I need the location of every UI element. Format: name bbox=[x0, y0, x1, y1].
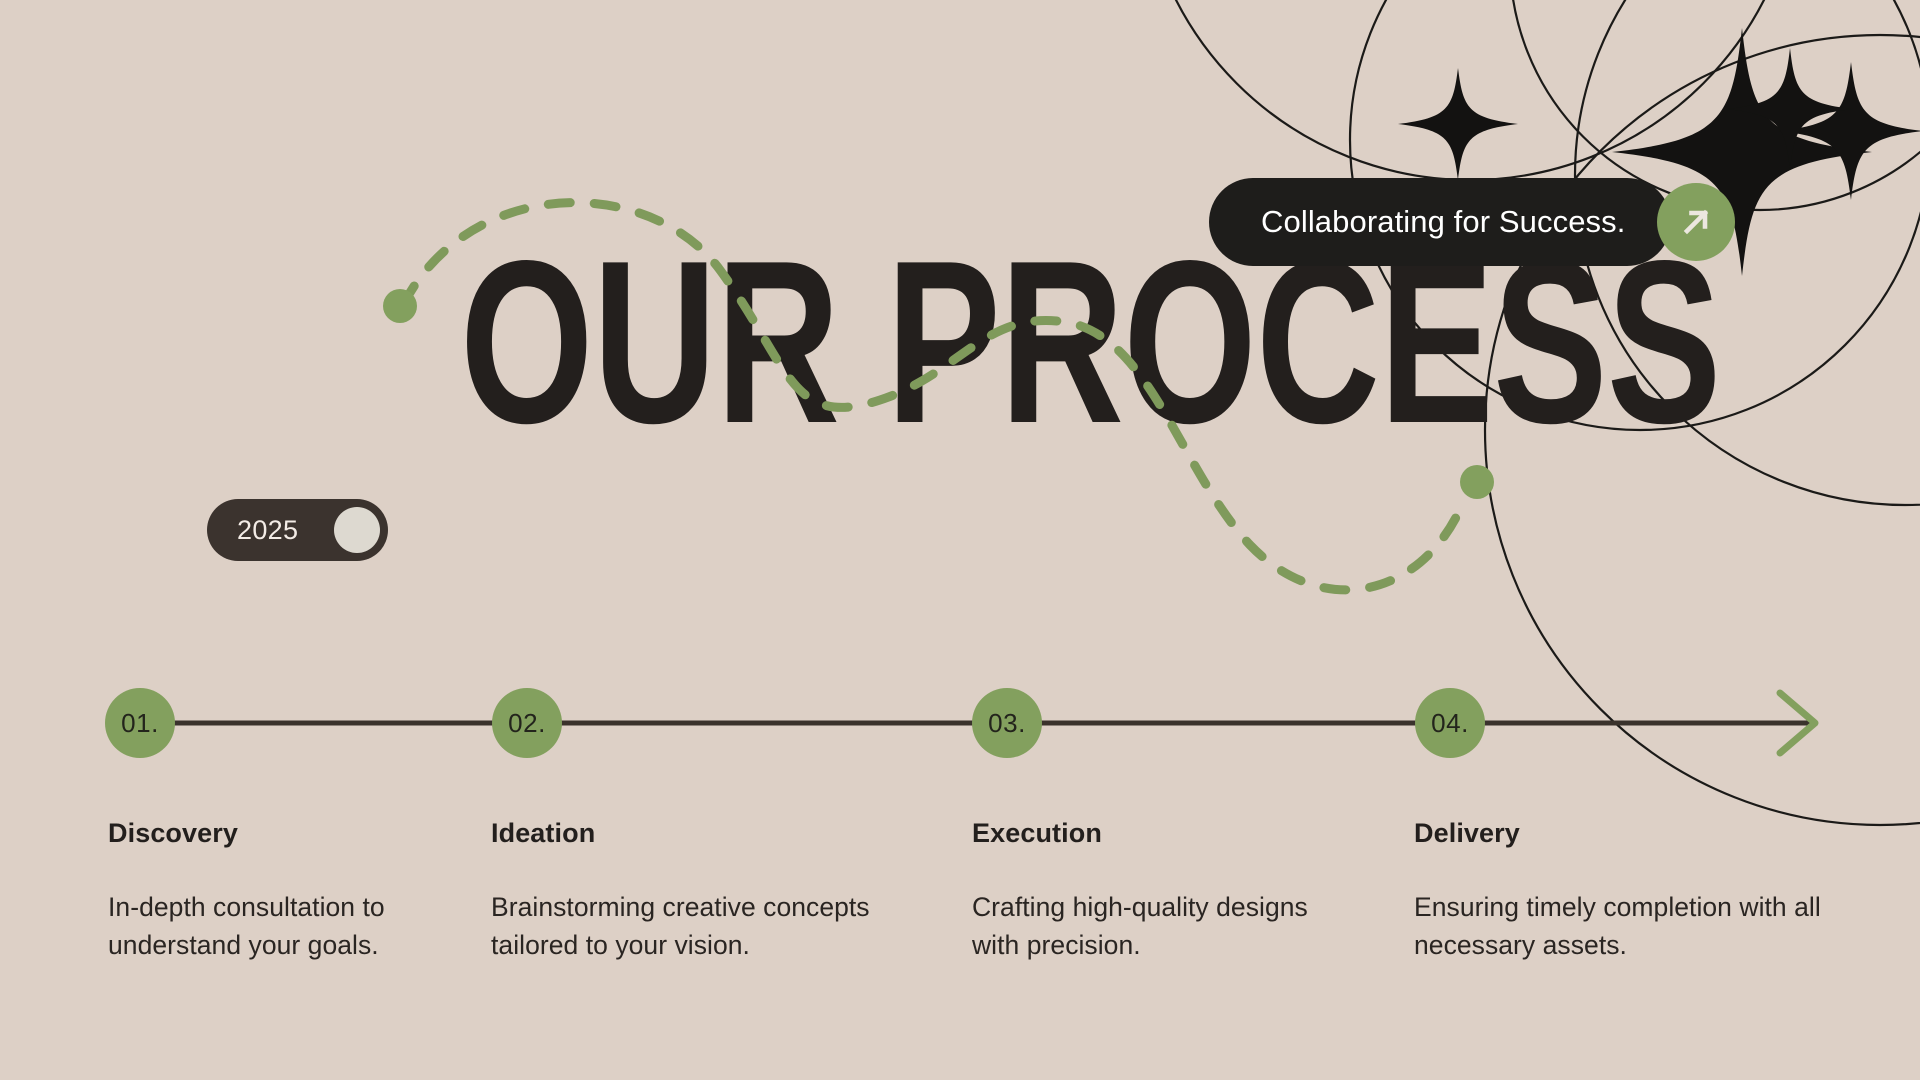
timeline-node-03[interactable]: 03. bbox=[972, 688, 1042, 758]
step-title: Delivery bbox=[1414, 818, 1824, 849]
step-title: Execution bbox=[972, 818, 1352, 849]
step-description: In-depth consultation to understand your… bbox=[108, 889, 458, 964]
step-title: Ideation bbox=[491, 818, 901, 849]
step-item-execution: Execution Crafting high-quality designs … bbox=[972, 818, 1352, 964]
timeline-track bbox=[0, 688, 1920, 800]
step-description: Crafting high-quality designs with preci… bbox=[972, 889, 1352, 964]
timeline-node-02[interactable]: 02. bbox=[492, 688, 562, 758]
timeline-node-01[interactable]: 01. bbox=[105, 688, 175, 758]
year-toggle-label: 2025 bbox=[237, 515, 298, 546]
year-toggle-knob[interactable] bbox=[334, 507, 380, 553]
badge-pill[interactable]: Collaborating for Success. bbox=[1209, 178, 1671, 266]
step-description: Ensuring timely completion with all nece… bbox=[1414, 889, 1824, 964]
dashed-path-end-dot bbox=[1460, 465, 1494, 499]
timeline-node-04[interactable]: 04. bbox=[1415, 688, 1485, 758]
timeline-node-label: 01. bbox=[121, 708, 159, 739]
collaborating-badge[interactable]: Collaborating for Success. bbox=[1209, 178, 1735, 266]
timeline-node-label: 04. bbox=[1431, 708, 1469, 739]
step-item-delivery: Delivery Ensuring timely completion with… bbox=[1414, 818, 1824, 964]
step-description: Brainstorming creative concepts tailored… bbox=[491, 889, 901, 964]
timeline-node-label: 02. bbox=[508, 708, 546, 739]
slide-canvas: Collaborating for Success. OUR PROCESS 2… bbox=[0, 0, 1920, 1080]
badge-label: Collaborating for Success. bbox=[1261, 204, 1625, 240]
arrow-up-right-icon bbox=[1677, 203, 1715, 241]
badge-arrow-button[interactable] bbox=[1657, 183, 1735, 261]
process-timeline: 01. 02. 03. 04. bbox=[0, 688, 1920, 800]
step-item-ideation: Ideation Brainstorming creative concepts… bbox=[491, 818, 901, 964]
year-toggle[interactable]: 2025 bbox=[207, 499, 388, 561]
dashed-path-start-dot bbox=[383, 289, 417, 323]
step-title: Discovery bbox=[108, 818, 458, 849]
timeline-node-label: 03. bbox=[988, 708, 1026, 739]
step-item-discovery: Discovery In-depth consultation to under… bbox=[108, 818, 458, 964]
